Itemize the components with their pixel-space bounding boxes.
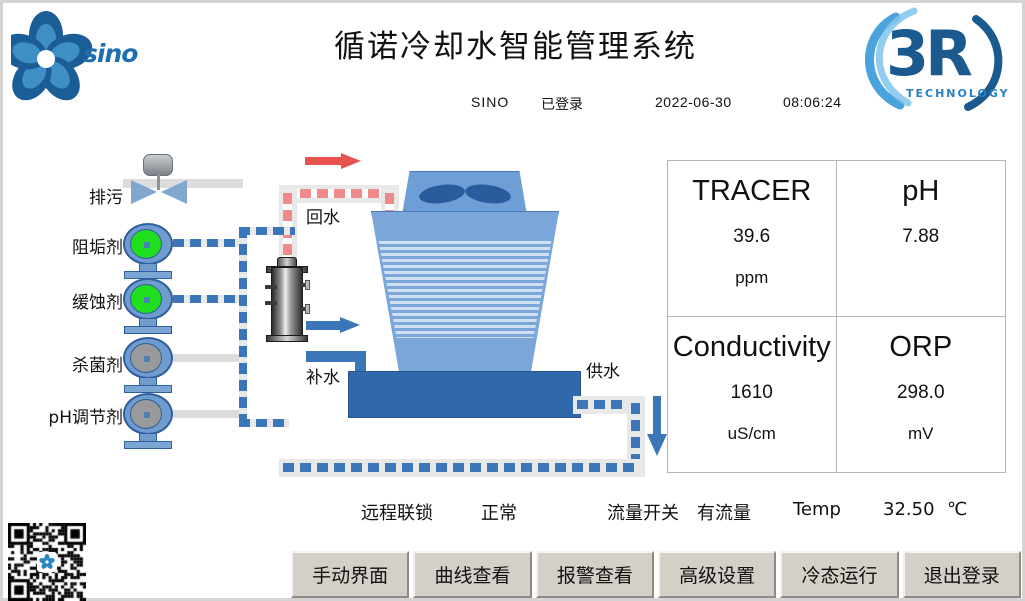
vessel-nozzle-left-lower — [265, 301, 277, 305]
remote-interlock-label: 远程联锁 — [361, 499, 433, 525]
status-bar: 远程联锁 正常 流量开关 有流量 Temp 32.50 ℃ — [3, 499, 1025, 529]
measurement-name: ORP — [889, 331, 952, 364]
pump-corrosion-inhibitor[interactable] — [121, 278, 175, 334]
cold-start-button[interactable]: 冷态运行 — [780, 551, 898, 598]
pump-base-icon — [124, 441, 172, 449]
vessel-bottom-flange-icon — [266, 335, 308, 342]
manifold-line-bottom — [239, 419, 289, 427]
valve-stem-icon — [157, 174, 160, 190]
chem-label-ph: pH调节剂 — [5, 403, 123, 428]
measurement-value: 1610 — [731, 382, 773, 404]
manual-interface-button[interactable]: 手动界面 — [291, 551, 409, 598]
pump-status-indicator — [130, 229, 162, 259]
qr-code[interactable] — [8, 523, 86, 601]
measurement-cell-orp[interactable]: ORP 298.0 mV — [837, 317, 1006, 473]
temp-unit: ℃ — [947, 499, 967, 520]
measurement-value: 7.88 — [902, 226, 939, 248]
measurement-panel: TRACER 39.6 ppm pH 7.88 Conductivity 161… — [667, 160, 1006, 473]
measurement-name: Conductivity — [673, 331, 831, 364]
temp-value: 32.50 — [883, 499, 935, 520]
curve-view-button[interactable]: 曲线查看 — [413, 551, 531, 598]
pump-scale-inhibitor[interactable] — [121, 223, 175, 279]
measurement-cell-tracer[interactable]: TRACER 39.6 ppm — [668, 161, 837, 317]
supply-flow-arrow — [647, 396, 667, 458]
label-return-water: 回水 — [306, 203, 340, 228]
3r-logo-subtext: TECHNOLOGY — [906, 87, 1010, 100]
cooling-tower-basin — [348, 371, 581, 418]
dosing-line-scale — [173, 239, 245, 247]
pump-ph-adjuster[interactable] — [121, 393, 175, 449]
measurement-unit: uS/cm — [728, 424, 776, 444]
measurement-unit: ppm — [735, 268, 768, 288]
current-user: SINO — [471, 94, 509, 110]
pump-status-indicator — [130, 284, 162, 314]
label-makeup-water: 补水 — [306, 363, 340, 388]
label-supply-water: 供水 — [586, 357, 620, 382]
measurement-name: pH — [902, 175, 939, 208]
supply-pipe-bottom — [283, 463, 639, 472]
bottom-button-bar: 手动界面 曲线查看 报警查看 高级设置 冷态运行 退出登录 — [291, 551, 1021, 598]
measurement-value: 39.6 — [733, 226, 770, 248]
return-pipe-top — [283, 189, 395, 198]
fan-blade-left-icon — [418, 182, 466, 206]
pump-status-indicator — [130, 399, 162, 429]
flow-switch-label: 流量开关 — [607, 499, 679, 525]
manifold-line-top — [239, 227, 295, 235]
chem-label-blowdown: 排污 — [13, 183, 123, 208]
system-time: 08:06:24 — [783, 94, 842, 110]
pump-base-icon — [124, 385, 172, 393]
remote-interlock-value: 正常 — [481, 499, 517, 525]
vessel-nozzle-cap-lower — [305, 304, 310, 314]
dosing-line-corrosion — [173, 295, 245, 303]
valve-right-body-icon — [161, 180, 187, 204]
system-date: 2022-06-30 — [655, 94, 732, 110]
measurement-name: TRACER — [692, 175, 811, 208]
chem-label-biocide: 杀菌剂 — [13, 351, 123, 376]
blowdown-valve[interactable] — [129, 154, 189, 202]
hmi-screen: sino 3R TECHNOLOGY 循诺冷却水智能管理系统 SINO 已登录 … — [0, 0, 1025, 601]
return-flow-arrow — [305, 153, 363, 169]
cooling-tower-fill-icon — [375, 241, 555, 338]
advanced-settings-button[interactable]: 高级设置 — [658, 551, 776, 598]
fan-blade-right-icon — [464, 182, 512, 206]
chem-label-corrosion: 缓蚀剂 — [13, 288, 123, 313]
makeup-flow-arrow — [306, 317, 364, 333]
valve-actuator-icon — [143, 154, 173, 176]
logout-button[interactable]: 退出登录 — [903, 551, 1021, 598]
pump-status-indicator — [130, 343, 162, 373]
measurement-value: 298.0 — [897, 382, 945, 404]
qr-center-logo-icon — [37, 552, 57, 572]
chem-label-scale: 阻垢剂 — [13, 233, 123, 258]
vessel-nozzle-left-upper — [265, 285, 277, 289]
valve-left-body-icon — [131, 180, 157, 204]
pump-base-icon — [124, 326, 172, 334]
login-status: 已登录 — [541, 94, 583, 114]
side-stream-filter[interactable] — [265, 255, 309, 353]
pump-biocide[interactable] — [121, 337, 175, 393]
measurement-unit: mV — [908, 424, 934, 444]
measurement-cell-conductivity[interactable]: Conductivity 1610 uS/cm — [668, 317, 837, 473]
vessel-nozzle-cap-upper — [305, 280, 310, 290]
dosing-line-ph — [173, 410, 245, 418]
supply-pipe-right — [631, 403, 640, 465]
dosing-line-biocide — [173, 354, 245, 362]
cooling-tower-fan-housing — [402, 171, 527, 215]
flow-switch-value: 有流量 — [697, 499, 751, 525]
measurement-cell-ph[interactable]: pH 7.88 — [837, 161, 1006, 317]
alarm-view-button[interactable]: 报警查看 — [536, 551, 654, 598]
temp-label: Temp — [793, 499, 841, 520]
page-title: 循诺冷却水智能管理系统 — [3, 21, 1025, 66]
manifold-line-vertical — [239, 227, 247, 427]
